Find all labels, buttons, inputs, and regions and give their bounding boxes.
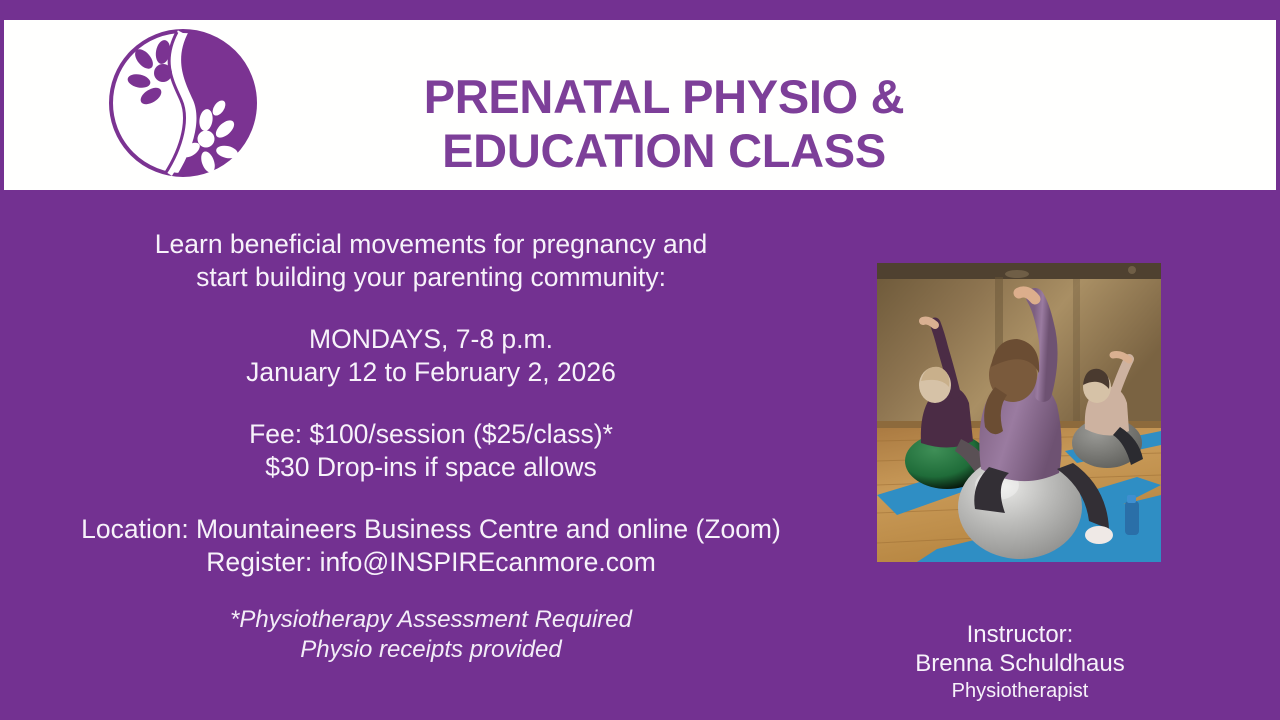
instructor-name: Brenna Schuldhaus — [875, 649, 1165, 678]
fee-session: Fee: $100/session ($25/class)* — [16, 418, 846, 451]
fees-paragraph: Fee: $100/session ($25/class)* $30 Drop-… — [16, 418, 846, 483]
location-paragraph: Location: Mountaineers Business Centre a… — [16, 513, 846, 578]
poster-canvas: PRENATAL PHYSIO & EDUCATION CLASS Learn … — [0, 0, 1280, 720]
page-title: PRENATAL PHYSIO & EDUCATION CLASS — [304, 70, 1024, 178]
header-band: PRENATAL PHYSIO & EDUCATION CLASS — [4, 20, 1276, 190]
page-title-line-1: PRENATAL PHYSIO & — [304, 70, 1024, 124]
schedule-time: MONDAYS, 7-8 p.m. — [16, 323, 846, 356]
intro-line-2: start building your parenting community: — [16, 261, 846, 294]
instructor-block: Instructor: Brenna Schuldhaus Physiother… — [875, 620, 1165, 704]
footnote-paragraph: *Physiotherapy Assessment Required Physi… — [16, 605, 846, 665]
register-line: Register: info@INSPIREcanmore.com — [16, 546, 846, 579]
intro-line-1: Learn beneficial movements for pregnancy… — [16, 228, 846, 261]
inspire-flower-circle-logo — [107, 26, 259, 180]
instructor-credential: Physiotherapist — [875, 678, 1165, 704]
prenatal-class-exercise-ball-photo — [877, 263, 1161, 562]
instructor-label: Instructor: — [875, 620, 1165, 649]
fee-dropin: $30 Drop-ins if space allows — [16, 451, 846, 484]
schedule-paragraph: MONDAYS, 7-8 p.m. January 12 to February… — [16, 323, 846, 388]
page-title-line-2: EDUCATION CLASS — [304, 124, 1024, 178]
schedule-dates: January 12 to February 2, 2026 — [16, 356, 846, 389]
intro-paragraph: Learn beneficial movements for pregnancy… — [16, 228, 846, 293]
body-text-column: Learn beneficial movements for pregnancy… — [16, 228, 846, 665]
location-line: Location: Mountaineers Business Centre a… — [16, 513, 846, 546]
footnote-line-2: Physio receipts provided — [16, 635, 846, 665]
footnote-line-1: *Physiotherapy Assessment Required — [16, 605, 846, 635]
